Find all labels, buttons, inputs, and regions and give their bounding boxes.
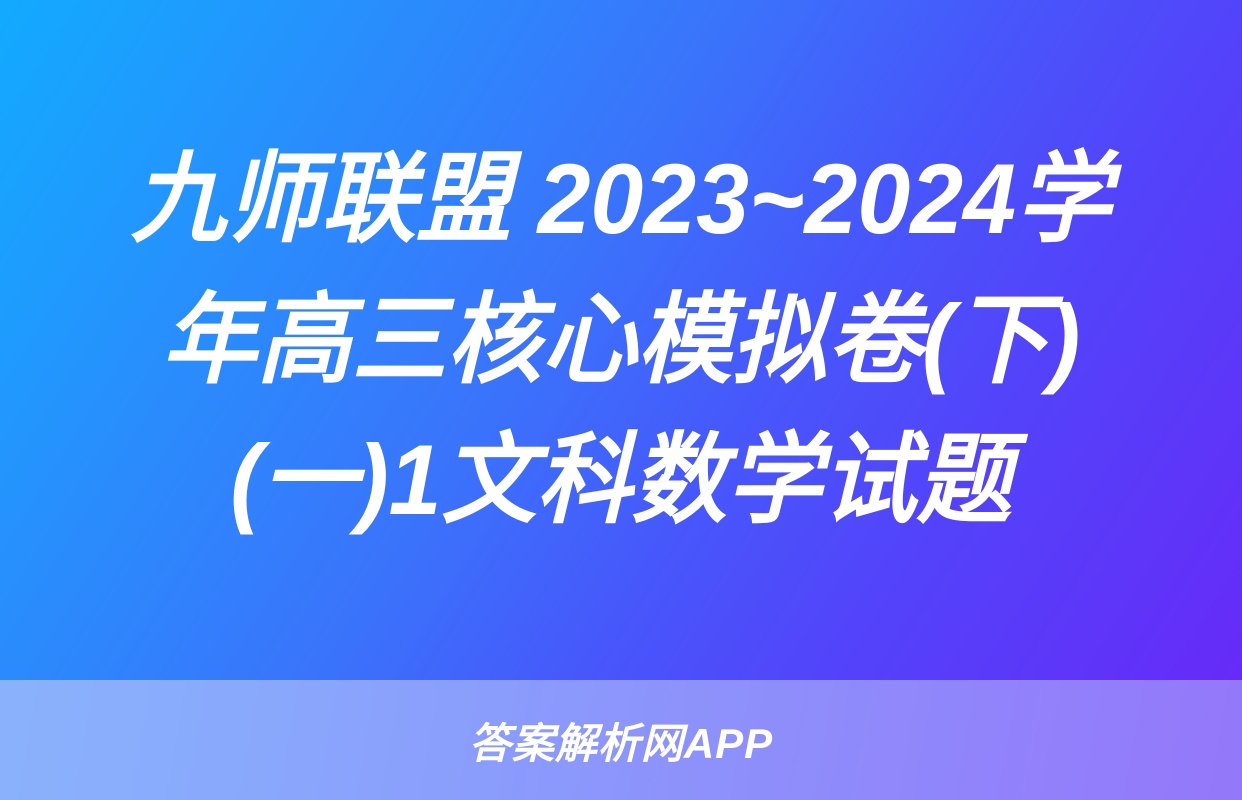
exam-paper-cover: 九师联盟 2023~2024学年高三核心模拟卷(下)(一)1文科数学试题 答案解… xyxy=(0,0,1242,800)
watermark-text: 答案解析网APP xyxy=(469,710,773,771)
watermark-band: 答案解析网APP xyxy=(0,680,1242,800)
page-title: 九师联盟 2023~2024学年高三核心模拟卷(下)(一)1文科数学试题 xyxy=(98,129,1144,551)
title-block: 九师联盟 2023~2024学年高三核心模拟卷(下)(一)1文科数学试题 xyxy=(0,0,1242,680)
